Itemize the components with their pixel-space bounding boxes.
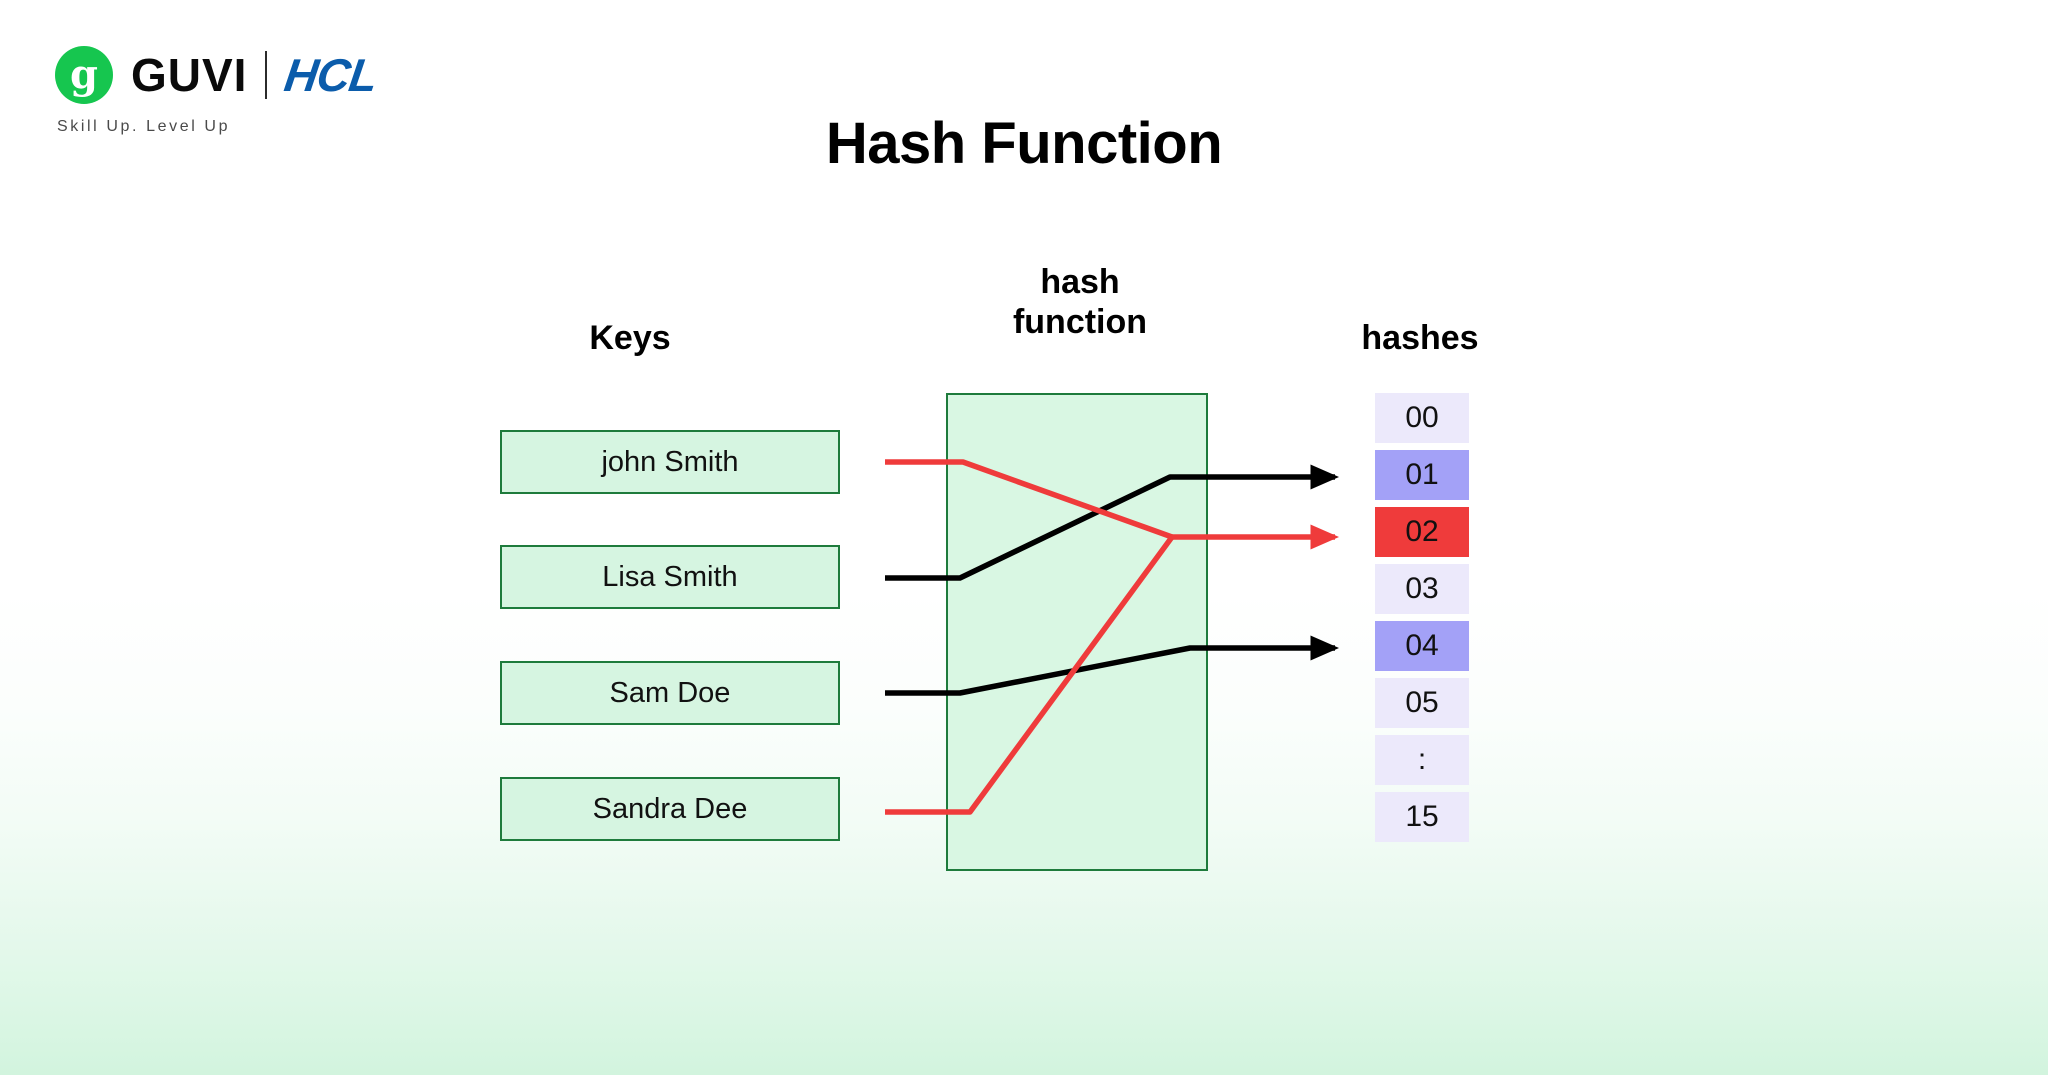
hash-function-heading: hash function: [955, 262, 1205, 342]
hash-cell-00[interactable]: 00: [1375, 393, 1469, 443]
slide-canvas: g GUVI HCL Skill Up. Level Up Hash Funct…: [0, 0, 2048, 1075]
page-title: Hash Function: [0, 110, 2048, 177]
key-box-lisa-smith[interactable]: Lisa Smith: [500, 545, 840, 609]
guvi-logo-glyph: g: [55, 46, 113, 104]
hash-cell-ellipsis[interactable]: :: [1375, 735, 1469, 785]
guvi-wordmark: GUVI: [131, 52, 247, 98]
hashes-column-heading: hashes: [1295, 318, 1545, 358]
hash-cell-label: 00: [1405, 401, 1438, 435]
hcl-wordmark: HCL: [282, 52, 380, 98]
keys-column-heading: Keys: [510, 318, 750, 358]
brand-row: g GUVI HCL: [55, 44, 377, 106]
key-label: Lisa Smith: [602, 561, 737, 594]
key-box-sandra-dee[interactable]: Sandra Dee: [500, 777, 840, 841]
hash-cell-02[interactable]: 02: [1375, 507, 1469, 557]
key-label: john Smith: [601, 446, 738, 479]
hash-cell-03[interactable]: 03: [1375, 564, 1469, 614]
hash-cell-01[interactable]: 01: [1375, 450, 1469, 500]
hash-cell-label: 15: [1405, 800, 1438, 834]
hash-cell-label: :: [1418, 743, 1426, 777]
guvi-logo-icon: g: [55, 46, 113, 104]
key-label: Sandra Dee: [593, 793, 748, 826]
hash-function-box: [946, 393, 1208, 871]
hash-function-heading-line1: hash: [955, 262, 1205, 302]
hash-cell-label: 03: [1405, 572, 1438, 606]
hash-cell-label: 05: [1405, 686, 1438, 720]
hash-cell-label: 04: [1405, 629, 1438, 663]
brand-divider: [265, 51, 267, 99]
hash-cell-04[interactable]: 04: [1375, 621, 1469, 671]
key-box-john-smith[interactable]: john Smith: [500, 430, 840, 494]
key-box-sam-doe[interactable]: Sam Doe: [500, 661, 840, 725]
hash-cell-15[interactable]: 15: [1375, 792, 1469, 842]
hash-function-heading-line2: function: [955, 302, 1205, 342]
hash-cell-05[interactable]: 05: [1375, 678, 1469, 728]
hash-cell-label: 02: [1405, 515, 1438, 549]
hash-cell-label: 01: [1405, 458, 1438, 492]
key-label: Sam Doe: [610, 677, 731, 710]
